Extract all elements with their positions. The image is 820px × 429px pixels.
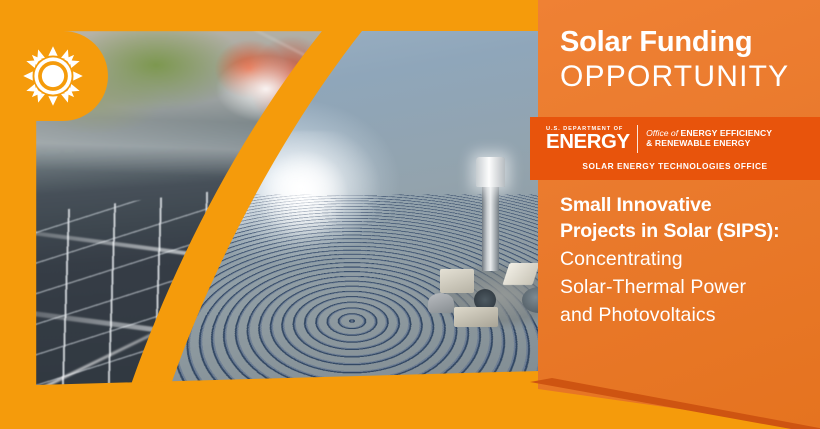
plant-building [454, 307, 498, 327]
heading-line-1: Solar Funding [560, 28, 806, 58]
title-strong-line-1: Small Innovative [560, 193, 810, 219]
text-panel: Solar Funding OPPORTUNITY Small Innovati… [538, 0, 820, 429]
doe-divider-rule [637, 125, 638, 153]
eere-office-line-1: ENERGY EFFICIENCY [680, 128, 772, 138]
solar-receiver-head [476, 157, 505, 187]
title-strong-line-2: Projects in Solar (SIPS): [560, 219, 810, 245]
doe-department-name: ENERGY [546, 133, 630, 151]
eere-wordmark: Office of ENERGY EFFICIENCY & RENEWABLE … [646, 129, 772, 149]
title-light-line-2: Solar-Thermal Power [560, 275, 810, 301]
doe-wordmark: U.S. DEPARTMENT OF ENERGY [546, 127, 628, 152]
eere-office-line-2: & RENEWABLE ENERGY [646, 139, 772, 149]
doe-lockup: U.S. DEPARTMENT OF ENERGY Office of ENER… [546, 125, 772, 153]
solar-funding-poster: Solar Funding OPPORTUNITY Small Innovati… [0, 0, 820, 429]
eere-office-prefix: Office of [646, 128, 678, 138]
photo-collage [36, 31, 538, 405]
heading-line-2: OPPORTUNITY [560, 60, 806, 93]
title-light-line-1: Concentrating [560, 247, 810, 273]
sun-badge-tab [0, 31, 108, 121]
plant-tank [428, 293, 454, 313]
plant-building [440, 269, 474, 293]
plant-building [502, 263, 538, 285]
doe-logo-band: U.S. DEPARTMENT OF ENERGY Office of ENER… [530, 117, 820, 180]
title-light-line-3: and Photovoltaics [560, 303, 810, 329]
poster-heading: Solar Funding OPPORTUNITY [560, 28, 806, 93]
seto-office-name: SOLAR ENERGY TECHNOLOGIES OFFICE [530, 161, 820, 171]
page-title: Small Innovative Projects in Solar (SIPS… [560, 193, 810, 329]
sun-icon [22, 45, 84, 107]
